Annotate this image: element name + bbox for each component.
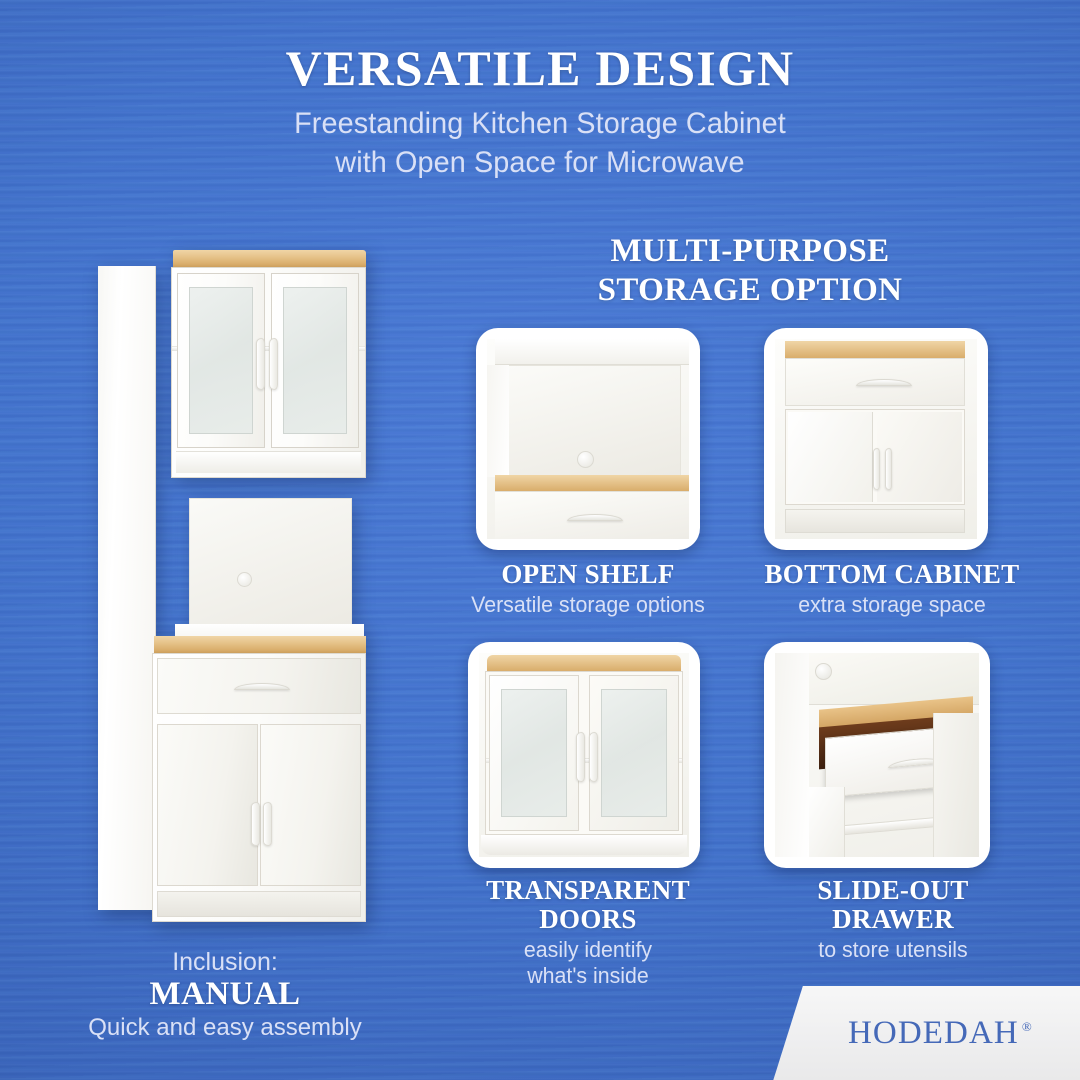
feature-image-transparent-doors (479, 653, 689, 857)
cord-hole-icon (577, 451, 594, 468)
cord-hole-icon (815, 663, 832, 680)
section-heading-line-2: STORAGE OPTION (470, 271, 1030, 310)
inclusion-label: Inclusion: (20, 948, 430, 976)
header-subtitle-line-1: Freestanding Kitchen Storage Cabinet (22, 104, 1059, 143)
hero-lower-body (152, 653, 366, 922)
inclusion-block: Inclusion: MANUAL Quick and easy assembl… (20, 948, 430, 1041)
hero-handle-upper-right (269, 338, 278, 390)
caption-title-slide-out-drawer-line-2: DRAWER (748, 905, 1038, 934)
card4-left-panel (775, 653, 809, 857)
registered-trademark-icon: ® (1022, 1019, 1032, 1034)
card3-glass-pane-right (601, 689, 667, 817)
card2-drawer (785, 358, 965, 406)
hero-handle-lower-left (251, 802, 260, 846)
caption-title-transparent-doors-line-1: TRANSPARENT (440, 876, 736, 905)
inclusion-name: MANUAL (20, 976, 430, 1014)
hero-glass-door-left (177, 273, 265, 448)
header: VERSATILE DESIGN Freestanding Kitchen St… (0, 42, 1080, 182)
card3-glass-pane-left (501, 689, 567, 817)
card1-upper-rail (495, 339, 689, 365)
card3-wood-top (487, 655, 681, 671)
hero-handle-upper-left (256, 338, 265, 390)
hero-lower-wood-trim (154, 636, 366, 654)
card3-handle-left (576, 732, 585, 782)
caption-title-bottom-cabinet: BOTTOM CABINET (742, 560, 1042, 589)
hero-upper-body (171, 267, 366, 478)
card3-glass-door-right (589, 675, 679, 831)
card2-door-left (788, 412, 873, 502)
brand-panel: HODEDAH® (752, 986, 1080, 1080)
hero-glass-pane-left (189, 287, 253, 434)
caption-title-slide-out-drawer-line-1: SLIDE-OUT (748, 876, 1038, 905)
feature-image-bottom-cabinet (775, 339, 977, 539)
feature-card-open-shelf[interactable] (476, 328, 700, 550)
hero-product-image (98, 250, 366, 922)
section-heading: MULTI-PURPOSE STORAGE OPTION (470, 232, 1030, 309)
brand-name: HODEDAH (848, 1015, 1019, 1051)
section-heading-line-1: MULTI-PURPOSE (470, 232, 1030, 271)
header-subtitle: Freestanding Kitchen Storage Cabinet wit… (0, 104, 1080, 182)
card4-open-door (809, 787, 845, 857)
card3-handle-right (589, 732, 598, 782)
hero-open-shelf (155, 478, 366, 648)
hero-upper-base-rail (176, 451, 361, 473)
brand-logo: HODEDAH® (848, 1015, 1032, 1052)
card2-drawer-handle (856, 379, 912, 386)
card2-plinth (785, 509, 965, 533)
card3-glass-door-left (489, 675, 579, 831)
caption-subtitle-open-shelf: Versatile storage options (444, 592, 731, 618)
caption-open-shelf: OPEN SHELF Versatile storage options (440, 560, 736, 618)
hero-open-shelf-back (189, 498, 352, 628)
caption-subtitle-slide-out-drawer: to store utensils (752, 937, 1033, 963)
caption-transparent-doors: TRANSPARENT DOORS easily identify what's… (440, 876, 736, 990)
caption-title-open-shelf: OPEN SHELF (440, 560, 736, 589)
inclusion-note: Quick and easy assembly (20, 1014, 430, 1042)
card3-base (481, 835, 687, 855)
card3-cabinet-body (485, 671, 683, 835)
feature-card-bottom-cabinet[interactable] (764, 328, 988, 550)
hero-drawer-handle (234, 683, 290, 690)
caption-subtitle-transparent-doors-line-2: what's inside (444, 963, 731, 989)
card1-wood-trim (495, 475, 689, 491)
card1-drawer-handle (567, 514, 623, 521)
header-subtitle-line-2: with Open Space for Microwave (22, 143, 1059, 182)
caption-bottom-cabinet: BOTTOM CABINET extra storage space (742, 560, 1042, 618)
hero-cabinet-door-right (260, 724, 361, 886)
card4-right-panel (933, 713, 979, 857)
feature-image-open-shelf (487, 339, 689, 539)
caption-subtitle-bottom-cabinet: extra storage space (747, 592, 1038, 618)
card1-left-wall (487, 365, 509, 477)
caption-title-transparent-doors-line-2: DOORS (440, 905, 736, 934)
hero-plinth (157, 891, 361, 917)
hero-cabinet-door-left (157, 724, 258, 886)
caption-slide-out-drawer: SLIDE-OUT DRAWER to store utensils (748, 876, 1038, 963)
card2-door-area (785, 409, 965, 505)
hero-glass-door-right (271, 273, 359, 448)
feature-card-transparent-doors[interactable] (468, 642, 700, 868)
hero-handle-lower-right (263, 802, 272, 846)
card1-shelf-cavity (507, 365, 681, 477)
page-title: VERSATILE DESIGN (0, 42, 1080, 95)
card2-wood-trim (785, 341, 965, 358)
card1-drawer (495, 491, 689, 539)
card2-handle-right (885, 448, 892, 490)
cord-hole-icon (237, 572, 252, 587)
feature-card-slide-out-drawer[interactable] (764, 642, 990, 868)
hero-drawer (157, 658, 361, 714)
hero-glass-pane-right (283, 287, 347, 434)
card2-handle-left (873, 448, 880, 490)
hero-top-wood-trim (173, 250, 366, 268)
feature-image-slide-out-drawer (775, 653, 979, 857)
hero-lower-cabinet (134, 636, 366, 922)
hero-upper-cabinet (155, 250, 366, 478)
caption-subtitle-transparent-doors-line-1: easily identify (444, 937, 731, 963)
